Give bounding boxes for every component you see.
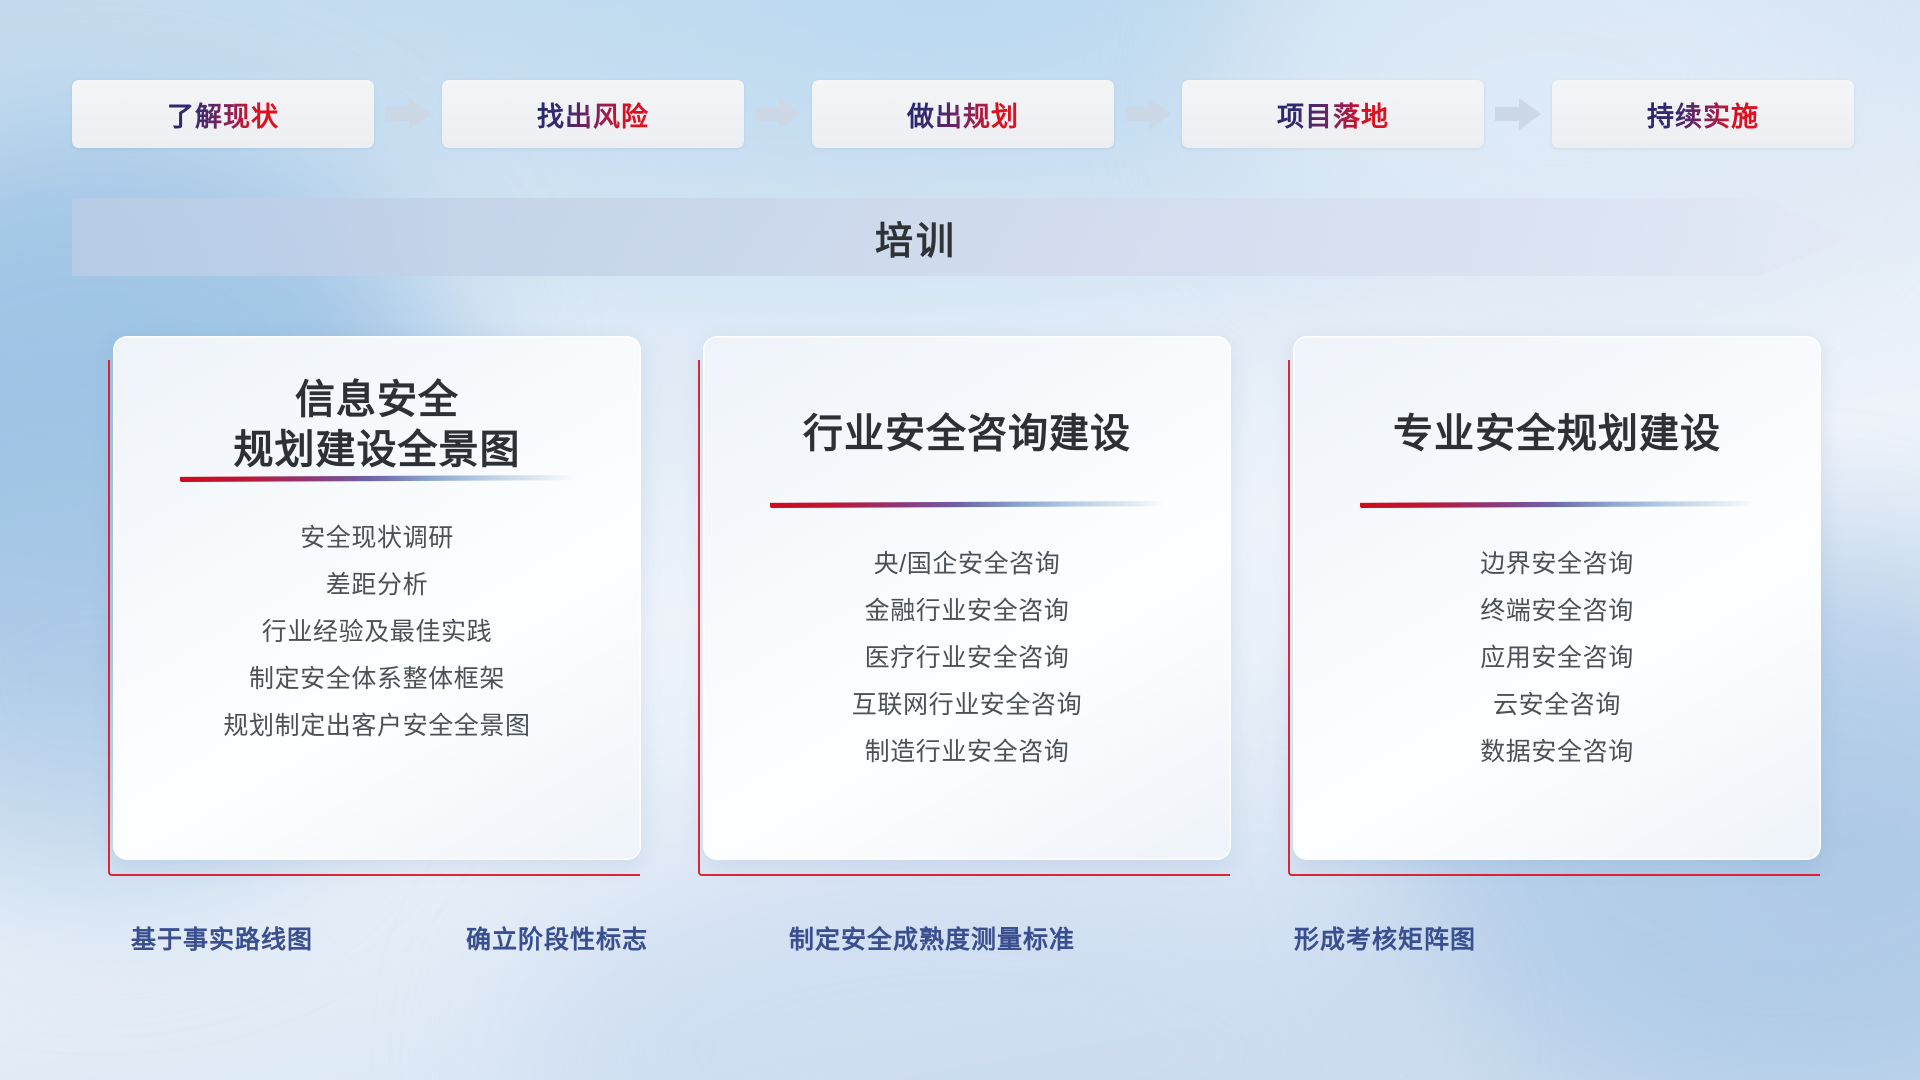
arrow-right-icon [374,94,442,134]
card-divider [1360,501,1754,508]
list-item: 金融行业安全咨询 [704,599,1230,624]
list-item: 央/国企安全咨询 [704,552,1230,577]
card-1[interactable]: 信息安全 规划建设全景图 安全现状调研 差距分析 行业经验及最佳实践 制定安全体… [108,336,638,874]
caption-4: 形成考核矩阵图 [1294,920,1476,956]
card-title: 专业安全规划建设 [1294,337,1820,459]
card-surface: 信息安全 规划建设全景图 安全现状调研 差距分析 行业经验及最佳实践 制定安全体… [113,336,641,860]
arrow-right-icon [1114,94,1182,134]
list-item: 互联网行业安全咨询 [704,693,1230,718]
training-banner: 培训 [72,198,1852,276]
card-item-list: 边界安全咨询 终端安全咨询 应用安全咨询 云安全咨询 数据安全咨询 [1294,552,1820,765]
list-item: 制定安全体系整体框架 [114,667,640,692]
arrow-right-icon [744,94,812,134]
step-label: 了解现状 [167,95,279,134]
card-title: 信息安全 规划建设全景图 [114,337,640,475]
step-label: 找出风险 [537,95,649,134]
step-box-5[interactable]: 持续实施 [1552,80,1854,148]
card-surface: 行业安全咨询建设 央/国企安全咨询 金融行业安全咨询 医疗行业安全咨询 互联网行… [703,336,1231,860]
list-item: 差距分析 [114,573,640,598]
card-item-list: 安全现状调研 差距分析 行业经验及最佳实践 制定安全体系整体框架 规划制定出客户… [114,526,640,739]
list-item: 规划制定出客户安全全景图 [114,714,640,739]
list-item: 终端安全咨询 [1294,599,1820,624]
step-box-1[interactable]: 了解现状 [72,80,374,148]
banner-label: 培训 [72,198,1852,276]
list-item: 医疗行业安全咨询 [704,646,1230,671]
step-label: 项目落地 [1277,95,1389,134]
list-item: 边界安全咨询 [1294,552,1820,577]
card-2[interactable]: 行业安全咨询建设 央/国企安全咨询 金融行业安全咨询 医疗行业安全咨询 互联网行… [698,336,1228,874]
step-box-3[interactable]: 做出规划 [812,80,1114,148]
step-box-4[interactable]: 项目落地 [1182,80,1484,148]
card-3[interactable]: 专业安全规划建设 边界安全咨询 终端安全咨询 应用安全咨询 云安全咨询 数据安全… [1288,336,1818,874]
list-item: 云安全咨询 [1294,693,1820,718]
list-item: 制造行业安全咨询 [704,740,1230,765]
list-item: 数据安全咨询 [1294,740,1820,765]
process-step-row: 了解现状 找出风险 做出规划 项目落地 [72,78,1854,150]
background-blob [520,840,1420,1080]
card-item-list: 央/国企安全咨询 金融行业安全咨询 医疗行业安全咨询 互联网行业安全咨询 制造行… [704,552,1230,765]
caption-2: 确立阶段性标志 [466,920,648,956]
card-title: 行业安全咨询建设 [704,337,1230,459]
step-box-2[interactable]: 找出风险 [442,80,744,148]
slide-canvas: 了解现状 找出风险 做出规划 项目落地 [0,0,1920,1080]
card-divider [770,501,1164,508]
step-label: 持续实施 [1647,95,1759,134]
list-item: 安全现状调研 [114,526,640,551]
caption-1: 基于事实路线图 [131,920,313,956]
arrow-right-icon [1484,94,1552,134]
step-label: 做出规划 [907,95,1019,134]
list-item: 行业经验及最佳实践 [114,620,640,645]
caption-3: 制定安全成熟度测量标准 [789,920,1075,956]
card-surface: 专业安全规划建设 边界安全咨询 终端安全咨询 应用安全咨询 云安全咨询 数据安全… [1293,336,1821,860]
card-divider [180,475,574,482]
card-row: 信息安全 规划建设全景图 安全现状调研 差距分析 行业经验及最佳实践 制定安全体… [108,336,1818,874]
list-item: 应用安全咨询 [1294,646,1820,671]
